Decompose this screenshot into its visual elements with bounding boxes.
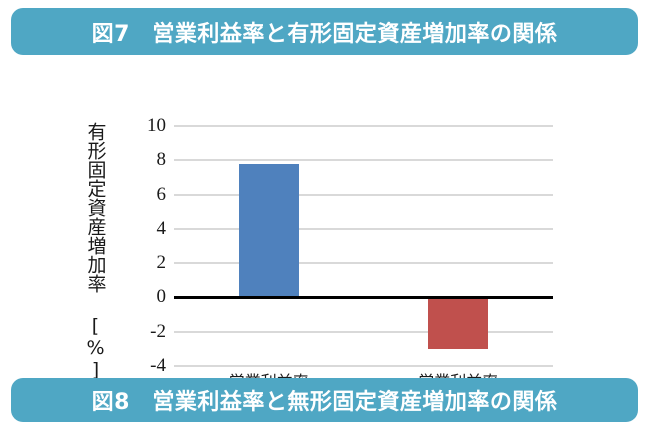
- gridline: [174, 365, 553, 367]
- gridline: [174, 262, 553, 264]
- gridline: [174, 159, 553, 161]
- figure-banner-top-label: 図7 営業利益率と有形固定資産増加率の関係: [92, 16, 558, 48]
- y-axis-tick-label: 0: [157, 286, 167, 308]
- bar-1: [428, 297, 488, 348]
- figure-banner-bottom: 図8 営業利益率と無形固定資産増加率の関係: [11, 378, 638, 422]
- plot-area: [174, 126, 553, 366]
- y-axis-title: 有形固定資産増加率 [%]: [83, 126, 109, 376]
- gridline: [174, 125, 553, 127]
- figure-banner-top: 図7 営業利益率と有形固定資産増加率の関係: [11, 8, 638, 55]
- y-axis-title-label: 有形固定資産増加率 [%]: [83, 122, 110, 381]
- gridline: [174, 228, 553, 230]
- gridline: [174, 331, 553, 333]
- figure-banner-bottom-label: 図8 営業利益率と無形固定資産増加率の関係: [92, 384, 558, 416]
- bar-chart-figure: 有形固定資産増加率 [%] 1086420-2-4 営業利益率上位10%営業利益…: [0, 58, 649, 376]
- bar-0: [239, 164, 299, 298]
- y-axis-tick-label: -4: [150, 355, 166, 377]
- y-axis-tick-label: 2: [157, 252, 167, 274]
- zero-axis-line: [174, 296, 553, 299]
- y-axis-tick-label: 4: [157, 218, 167, 240]
- gridline: [174, 194, 553, 196]
- y-axis-tick-labels: 1086420-2-4: [112, 126, 166, 366]
- y-axis-tick-label: 6: [157, 184, 167, 206]
- y-axis-tick-label: 8: [157, 149, 167, 171]
- y-axis-tick-label: -2: [150, 321, 166, 343]
- y-axis-tick-label: 10: [147, 115, 166, 137]
